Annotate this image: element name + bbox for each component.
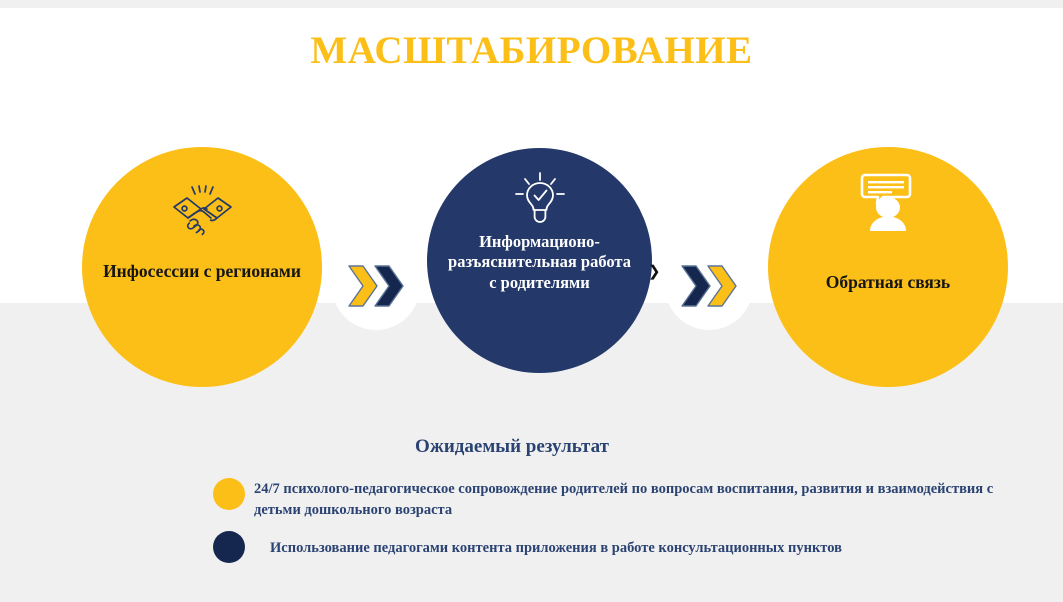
results-heading: Ожидаемый результат (0, 436, 1024, 458)
bullet-circle-icon (213, 478, 245, 510)
stage-label: Инфосессии с регионами (99, 261, 305, 282)
result-text: 24/7 психолого-педагогическое сопровожде… (254, 478, 1013, 521)
handshake-icon (171, 183, 233, 239)
stage-circle-parent-outreach[interactable]: Информационо-разъяснительная работа с ро… (427, 148, 652, 373)
stage-circle-infosessions[interactable]: Инфосессии с регионами (82, 147, 322, 387)
result-text: Использование педагогами контента прилож… (270, 531, 842, 559)
slide-canvas: МАСШТАБИРОВАНИЕ (0, 0, 1063, 602)
page-title: МАСШТАБИРОВАНИЕ (0, 30, 1063, 73)
double-chevron-right-icon (347, 263, 405, 309)
double-chevron-right-icon (680, 263, 738, 309)
arrow-connector-2 (665, 242, 753, 330)
stage-label: Информационо-разъяснительная работа с ро… (443, 232, 637, 293)
arrow-connector-1 (332, 242, 420, 330)
stage-label: Обратная связь (785, 272, 991, 293)
bullet-circle-icon (213, 531, 245, 563)
result-item: 24/7 психолого-педагогическое сопровожде… (213, 478, 1013, 521)
lightbulb-check-icon (512, 172, 568, 224)
edge-chevron-icon: ❯ (648, 262, 661, 280)
result-item: Использование педагогами контента прилож… (213, 531, 1013, 563)
top-gray-strip (0, 0, 1063, 8)
person-speech-bubble-icon (857, 172, 919, 232)
stage-circle-feedback[interactable]: Обратная связь (768, 147, 1008, 387)
